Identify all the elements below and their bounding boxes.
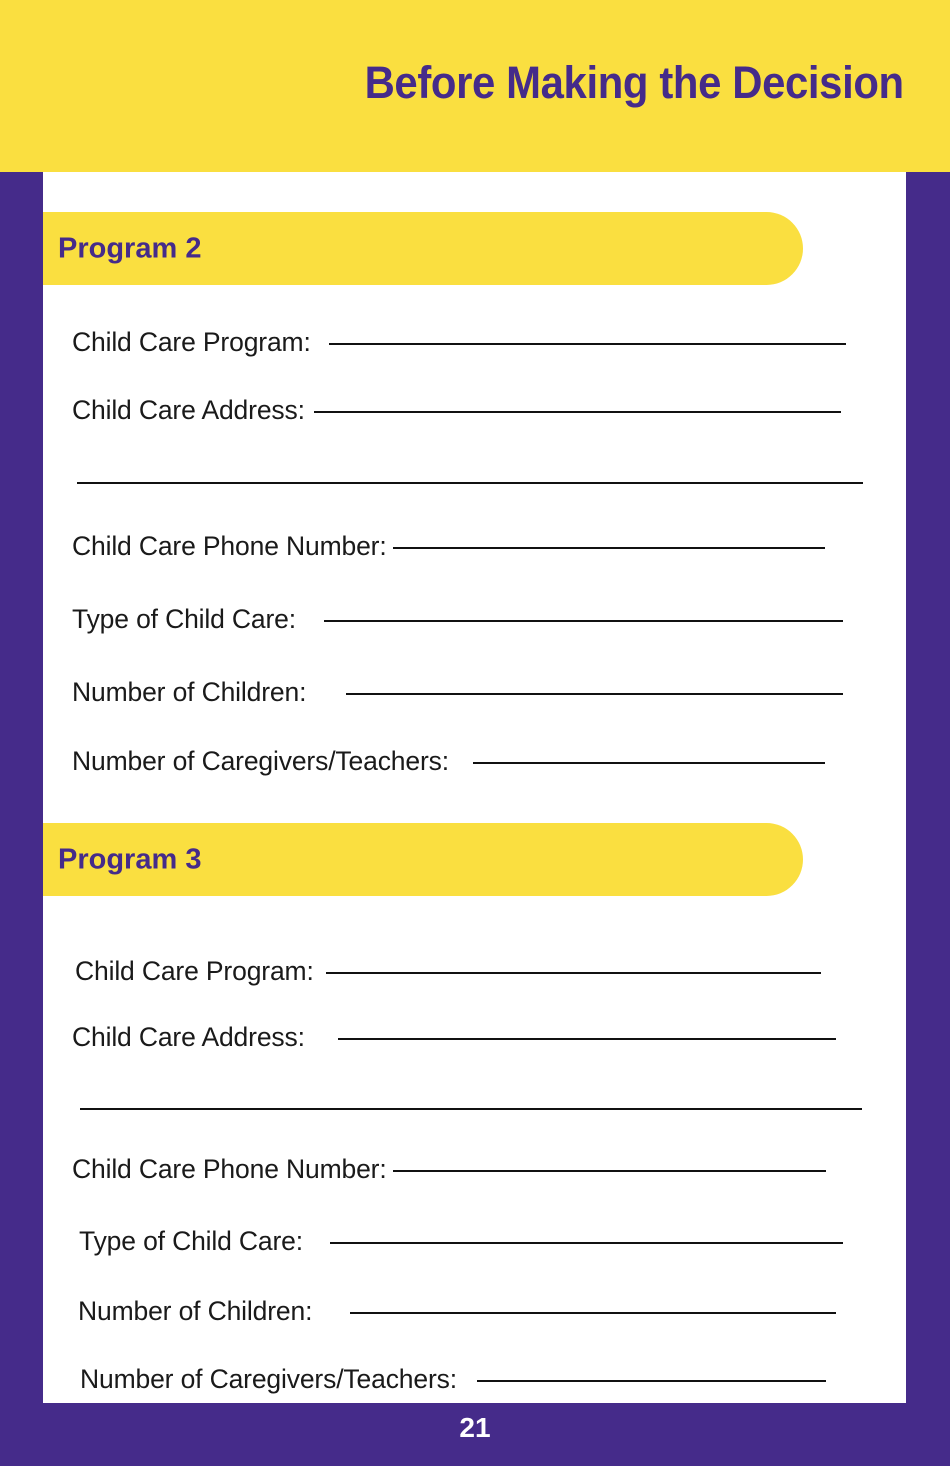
section-banner-program-2: Program 2: [43, 212, 803, 285]
field-row-child-care-program-2[interactable]: Child Care Program:: [75, 956, 821, 987]
field-row-number-of-children-2[interactable]: Number of Children:: [78, 1296, 836, 1327]
field-input-line[interactable]: [326, 972, 821, 974]
field-input-line[interactable]: [329, 343, 846, 345]
field-input-line[interactable]: [350, 1312, 836, 1314]
page-title: Before Making the Decision: [365, 57, 904, 109]
field-input-line[interactable]: [393, 547, 825, 549]
field-label: Child Care Address:: [72, 395, 305, 426]
field-input-line[interactable]: [324, 620, 843, 622]
field-label: Type of Child Care:: [79, 1226, 303, 1257]
field-row-number-of-caregivers-teachers-2[interactable]: Number of Caregivers/Teachers:: [80, 1364, 826, 1395]
page-content-card: Program 2 Child Care Program: Child Care…: [43, 172, 906, 1403]
field-input-line-address-continued[interactable]: [77, 482, 863, 484]
field-row-child-care-program[interactable]: Child Care Program:: [72, 327, 846, 358]
field-input-line[interactable]: [346, 693, 843, 695]
field-row-number-of-children[interactable]: Number of Children:: [72, 677, 843, 708]
field-input-line[interactable]: [473, 762, 825, 764]
field-label: Child Care Phone Number:: [72, 1154, 387, 1185]
field-label: Type of Child Care:: [72, 604, 296, 635]
page-number: 21: [0, 1412, 950, 1444]
field-label: Child Care Program:: [75, 956, 314, 987]
field-input-line[interactable]: [477, 1380, 826, 1382]
field-label: Child Care Address:: [72, 1022, 305, 1053]
field-input-line-address-continued-2[interactable]: [80, 1108, 862, 1110]
field-row-child-care-phone-number[interactable]: Child Care Phone Number:: [72, 531, 825, 562]
field-input-line[interactable]: [393, 1170, 826, 1172]
field-label: Number of Children:: [72, 677, 306, 708]
field-label: Number of Caregivers/Teachers:: [72, 746, 449, 777]
field-row-type-of-child-care[interactable]: Type of Child Care:: [72, 604, 843, 635]
header-band: Before Making the Decision: [0, 0, 950, 172]
section-banner-program-3: Program 3: [43, 823, 803, 896]
section-banner-label: Program 3: [58, 843, 201, 876]
field-row-child-care-phone-number-2[interactable]: Child Care Phone Number:: [72, 1154, 826, 1185]
field-label: Child Care Phone Number:: [72, 531, 387, 562]
field-label: Number of Children:: [78, 1296, 312, 1327]
field-label: Number of Caregivers/Teachers:: [80, 1364, 457, 1395]
field-input-line[interactable]: [338, 1038, 836, 1040]
section-banner-label: Program 2: [58, 232, 201, 265]
field-label: Child Care Program:: [72, 327, 311, 358]
field-row-child-care-address[interactable]: Child Care Address:: [72, 395, 841, 426]
field-input-line[interactable]: [314, 411, 841, 413]
field-row-type-of-child-care-2[interactable]: Type of Child Care:: [79, 1226, 843, 1257]
field-row-child-care-address-2[interactable]: Child Care Address:: [72, 1022, 836, 1053]
field-row-number-of-caregivers-teachers[interactable]: Number of Caregivers/Teachers:: [72, 746, 825, 777]
field-input-line[interactable]: [330, 1242, 843, 1244]
